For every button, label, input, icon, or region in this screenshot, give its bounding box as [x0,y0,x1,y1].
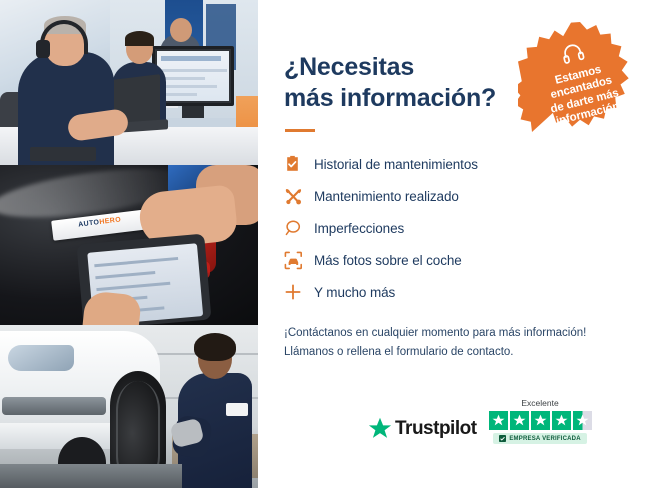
trustpilot-star-icon [368,417,392,440]
mechanic-logo-patch [226,403,248,416]
feature-item-historial: Historial de mantenimientos [284,148,624,180]
headset-icon [560,40,587,70]
contact-promo-badge: Estamos encantados de darte más informac… [518,20,642,144]
headset-earcup [36,40,50,58]
monitor-stand [182,106,204,118]
feature-label: Imperfecciones [314,221,404,236]
feature-item-mas: Y mucho más [284,276,624,308]
page-title: ¿Necesitas más información? [284,52,514,113]
contact-line-2: Llámanos o rellena el formulario de cont… [284,346,514,358]
monitor-screen [157,51,229,101]
headline-line-1: ¿Necesitas [284,53,414,81]
agent-3-head [170,18,192,42]
screen-row [161,85,217,88]
clipboard-check-icon [284,155,314,173]
car-scan-icon [284,251,314,270]
feature-item-imperfecciones: Imperfecciones [284,212,624,244]
feature-list: Historial de mantenimientos M [284,148,624,308]
trustpilot-stars [489,411,592,430]
contact-line-1: ¡Contáctanos en cualquier momento para m… [284,327,586,339]
trustpilot-wordmark: Trustpilot [395,418,477,440]
tablet-row [94,257,178,267]
car-inspection-ruler-photo: AUTOHERO [0,165,258,325]
headline-line-2: más información? [284,84,496,112]
feature-label: Mantenimiento realizado [314,189,459,204]
trustpilot-logo[interactable]: Trustpilot [368,417,477,444]
feature-label: Y mucho más [314,285,395,300]
title-underline-accent [285,129,315,132]
feature-label: Más fotos sobre el coche [314,253,462,268]
star-half [573,411,592,430]
tools-icon [284,187,314,206]
photo-column: AUTOHERO [0,0,258,488]
car-lift-platform [0,464,182,488]
trustpilot-score-block: Excelente EMPRESA VERIFICADA [489,398,592,444]
call-center-agents-photo [0,0,258,165]
feature-item-mantenimiento: Mantenimiento realizado [284,180,624,212]
trustpilot-rating-label: Excelente [521,398,558,408]
car-grille [2,397,106,415]
tablet-row [95,271,155,279]
feature-label: Historial de mantenimientos [314,157,478,172]
screen-toolbar [161,56,221,61]
star-filled [552,411,571,430]
trustpilot-rating[interactable]: Trustpilot Excelente EMPRESA VERIFICAD [368,398,592,444]
desk-tablet [30,147,96,161]
screen-row [161,93,197,96]
car-headlight [8,345,74,371]
screen-row [161,77,205,80]
mechanic-hair [194,333,236,361]
agent-2-hair [125,31,154,46]
content-panel: ¿Necesitas más información? Historial de… [258,0,650,488]
information-banner: AUTOHERO [0,0,650,488]
verified-check-icon [499,435,506,442]
contact-paragraph: ¡Contáctanos en cualquier momento para m… [284,324,624,362]
magnifier-icon [284,219,314,237]
plus-icon [284,283,314,301]
screen-row [161,69,227,72]
star-filled [531,411,550,430]
mechanic-wheel-check-photo [0,325,258,488]
verified-company-label: EMPRESA VERIFICADA [509,436,580,442]
star-filled [489,411,508,430]
star-filled [510,411,529,430]
tablet-row [96,282,170,291]
feature-item-fotos: Más fotos sobre el coche [284,244,624,276]
verified-company-badge: EMPRESA VERIFICADA [493,433,586,444]
